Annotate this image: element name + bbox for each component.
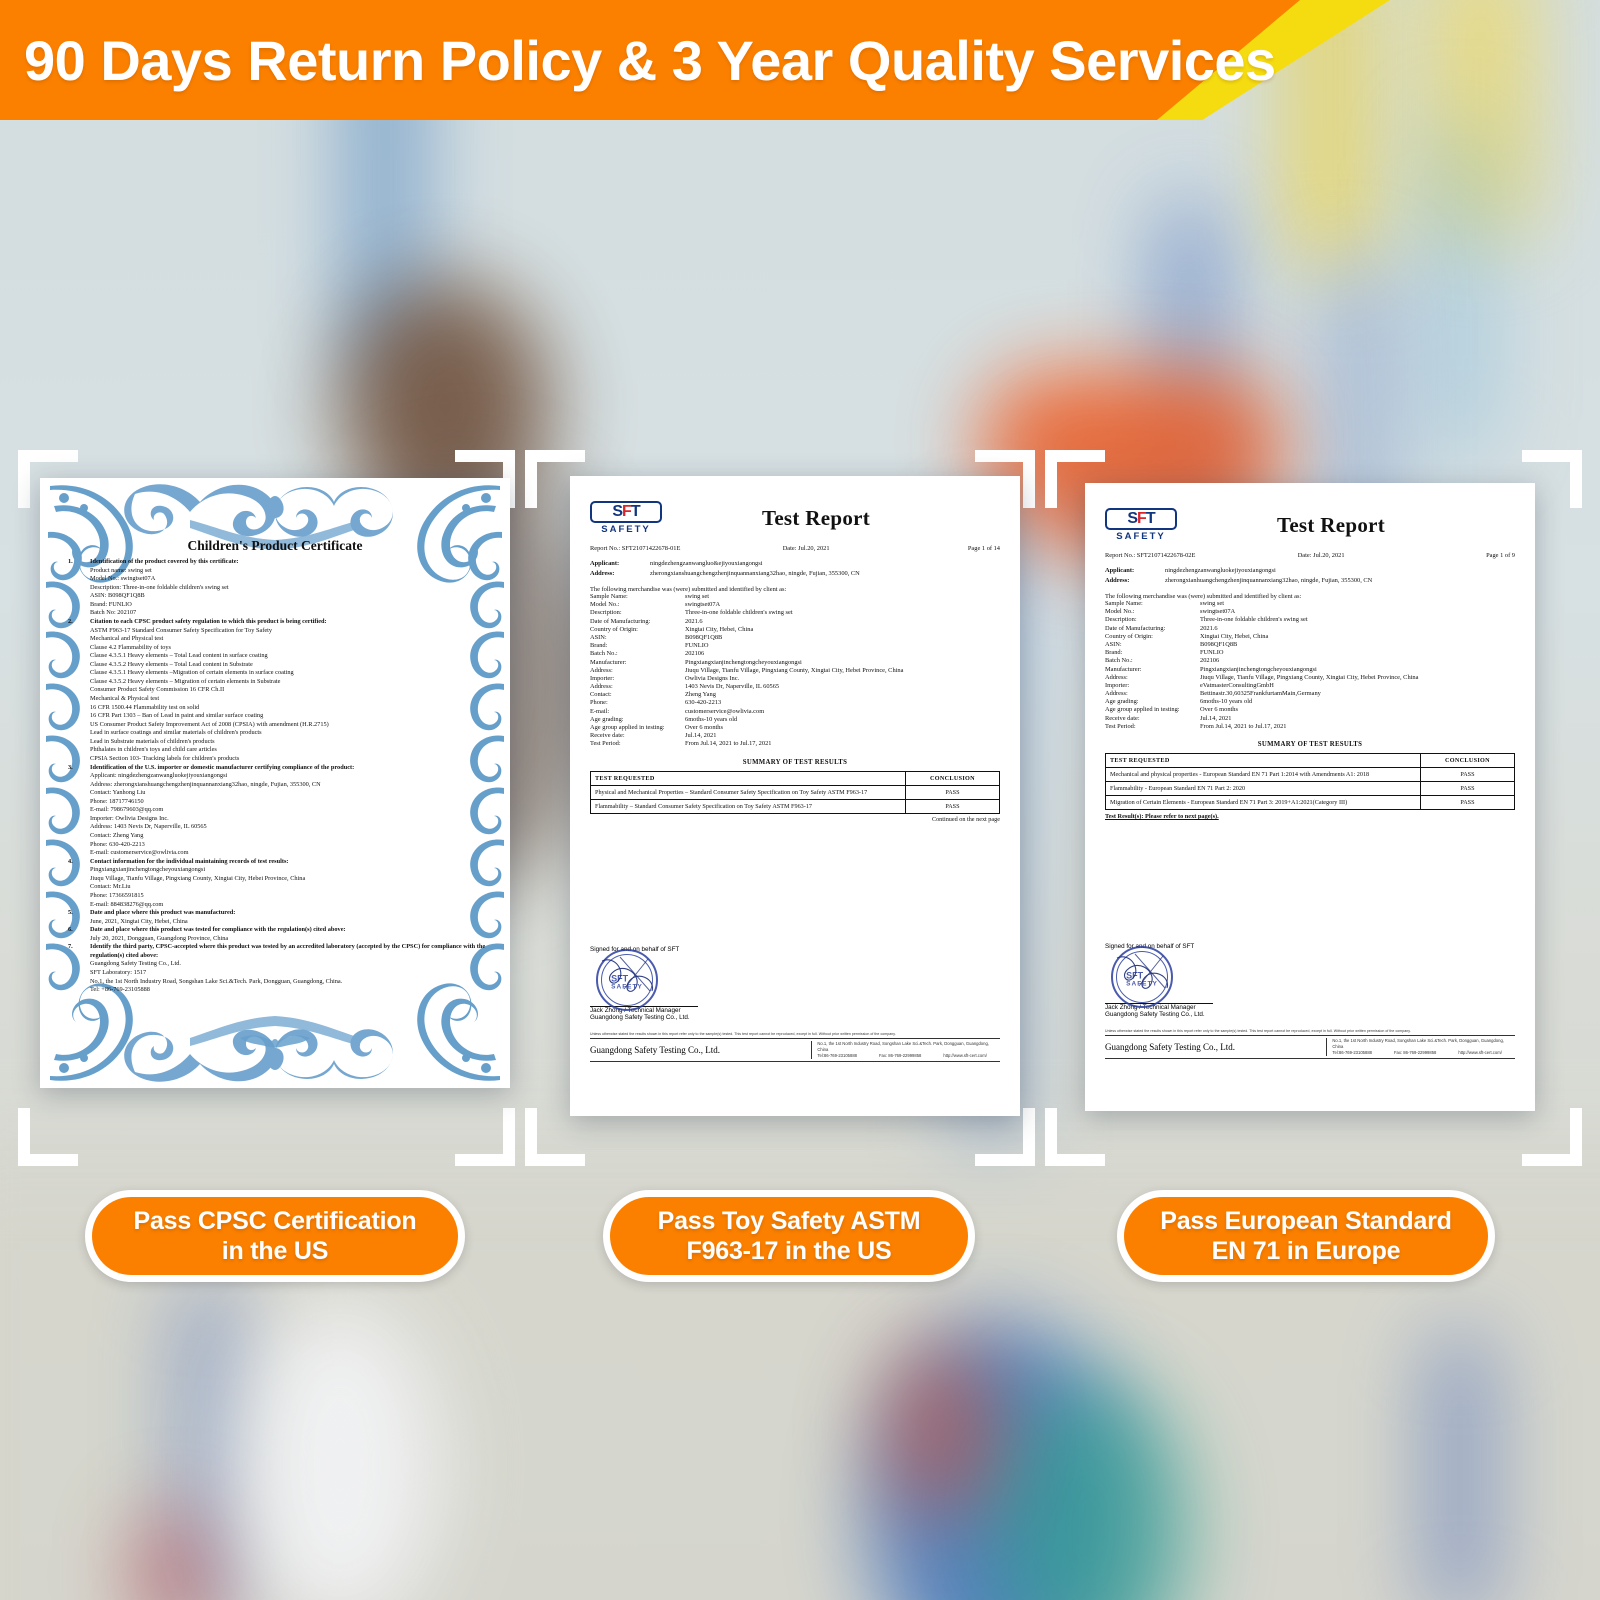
- report-astm-header: SFT SAFETY Test Report: [590, 498, 1000, 538]
- report-field-value: 630-420-2213: [685, 699, 1000, 707]
- certificate-item-line: Clause 4.2 Flammability of toys: [90, 644, 488, 653]
- table-row: Flammability - European Standard EN 71 P…: [1106, 782, 1515, 796]
- report-field-row: Sample Name:swing set: [590, 593, 1000, 601]
- certificate-item-line: Contact: Yanhong Liu: [90, 789, 488, 798]
- report-astm-applicant-block: Applicant: ningdezhengzanwangluo&ejiyoux…: [590, 560, 1000, 577]
- report-field-value: 2021.6: [685, 618, 1000, 626]
- certificate-item-line: E-mail: 798679603@qq.com: [90, 806, 488, 815]
- table-cell-test: Flammability – Standard Consumer Safety …: [591, 799, 906, 813]
- table-cell-conclusion: PASS: [1420, 796, 1514, 810]
- bg-blob-pole-lower-red: [140, 1510, 210, 1600]
- report-field-key: Description:: [590, 609, 685, 617]
- report-no-label: Report No.:: [590, 545, 620, 552]
- report-en71-footer: Unless otherwise stated the results show…: [1105, 1029, 1515, 1059]
- report-field-row: Brand:FUNLIO: [590, 642, 1000, 650]
- report-date-label: Date:: [1298, 552, 1312, 559]
- address-label: Address:: [590, 570, 650, 577]
- certificate-item-line: July 20, 2021, Dongguan, Guangdong Provi…: [90, 935, 488, 944]
- bracket-bottom-right: [1522, 1108, 1582, 1166]
- report-field-value: Jiuqu Village, Tianfu Village, Pingxiang…: [1200, 674, 1515, 682]
- report-field-key: Brand:: [1105, 649, 1200, 657]
- bg-blob-toy-red: [880, 1340, 1000, 1520]
- report-field-row: Age grading:6moths-10 years old: [1105, 698, 1515, 706]
- certificate-item-line: Address: zherongxianshuangchengzhenjinqu…: [90, 781, 488, 790]
- report-field-key: ASIN:: [1105, 641, 1200, 649]
- report-field-value: B098QF1Q8B: [1200, 641, 1515, 649]
- bracket-bottom-mid-left-b: [525, 1108, 585, 1166]
- report-field-key: Brand:: [590, 642, 685, 650]
- certificate-item-text: Citation to each CPSC product safety reg…: [90, 618, 488, 764]
- report-field-row: ASIN:B098QF1Q8B: [1105, 641, 1515, 649]
- report-field-value: swing set: [685, 593, 1000, 601]
- report-field-row: ASIN:B098QF1Q8B: [590, 634, 1000, 642]
- certificate-item-number: 5.: [68, 909, 90, 918]
- badge-cpsc-certification[interactable]: Pass CPSC Certification in the US: [85, 1190, 465, 1282]
- certificate-item-line: Brand: FUNLIO: [90, 601, 488, 610]
- report-field-value: customerservice@owlivia.com: [685, 708, 1000, 716]
- report-field-key: Date of Manufacturing:: [1105, 625, 1200, 633]
- badge-line-2: in the US: [134, 1236, 417, 1267]
- report-field-value: eVatmasterConsultingGmbH: [1200, 682, 1515, 690]
- certificate-item-line: No.1, the 1st North Industry Road, Songs…: [90, 978, 488, 987]
- certificate-item-text: Date and place where this product was te…: [90, 926, 488, 943]
- certificate-item-line: Phone: 18717746150: [90, 798, 488, 807]
- report-field-row: Address:Jiuqu Village, Tianfu Village, P…: [590, 667, 1000, 675]
- certificate-item: 3.Identification of the U.S. importer or…: [68, 764, 488, 858]
- report-field-value: Three-in-one foldable children's swing s…: [1200, 616, 1515, 624]
- certificate-item-number: 2.: [68, 618, 90, 627]
- certificate-item-number: 7.: [68, 943, 90, 952]
- certificate-item-text: Identify the third party, CPSC-accepted …: [90, 943, 488, 994]
- report-field-value: swing set: [1200, 600, 1515, 608]
- report-field-key: Age group applied in testing:: [590, 724, 685, 732]
- report-field-value: Jiuqu Village, Tianfu Village, Pingxiang…: [685, 667, 1000, 675]
- report-field-value: 1403 Nevis Dr, Naperville, IL 60565: [685, 683, 1000, 691]
- report-field-key: Address:: [590, 683, 685, 691]
- report-field-row: Receive date:Jul.14, 2021: [1105, 715, 1515, 723]
- certificate-body: 1.Identification of the product covered …: [68, 558, 488, 995]
- report-field-value: 202106: [1200, 657, 1515, 665]
- report-field-row: Importer:eVatmasterConsultingGmbH: [1105, 682, 1515, 690]
- report-en71-signature-block: Signed for and on behalf of SFT SFTSAFET…: [1105, 943, 1213, 1018]
- report-field-key: Importer:: [590, 675, 685, 683]
- report-field-row: Model No.:swingtset07A: [590, 601, 1000, 609]
- report-en71-summary-table: TEST REQUESTEDCONCLUSION Mechanical and …: [1105, 753, 1515, 810]
- report-no-value: SFT21071422678-02E: [1137, 552, 1196, 559]
- report-date-label: Date:: [783, 545, 797, 552]
- report-field-value: Over 6 months: [685, 724, 1000, 732]
- applicant-label: Applicant:: [1105, 567, 1165, 574]
- report-field-key: Phone:: [590, 699, 685, 707]
- report-field-row: Address:Jiuqu Village, Tianfu Village, P…: [1105, 674, 1515, 682]
- certificate-item-line: Mechanical and Physical test: [90, 635, 488, 644]
- report-field-key: Receive date:: [1105, 715, 1200, 723]
- report-field-row: Country of Origin:Xingtai City, Hebei, C…: [1105, 633, 1515, 641]
- certificate-item-heading: Identification of the U.S. importer or d…: [90, 764, 354, 771]
- certificate-item-text: Identification of the U.S. importer or d…: [90, 764, 488, 858]
- certificate-item-line: Contact: Zheng Yang: [90, 832, 488, 841]
- report-en71-header: SFT SAFETY Test Report: [1105, 505, 1515, 545]
- report-field-value: 6moths-10 years old: [685, 716, 1000, 724]
- certificate-item-line: Clause 4.3.5.2 Heavy elements – Total Le…: [90, 661, 488, 670]
- report-astm-summary-table: TEST REQUESTEDCONCLUSION Physical and Me…: [590, 771, 1000, 814]
- report-field-row: Batch No.:202106: [1105, 657, 1515, 665]
- certificate-item: 4.Contact information for the individual…: [68, 858, 488, 909]
- certificate-item-line: Importer: Owlivia Designs Inc.: [90, 815, 488, 824]
- certificate-item-heading: Citation to each CPSC product safety reg…: [90, 618, 327, 625]
- report-field-row: E-mail:customerservice@owlivia.com: [590, 708, 1000, 716]
- certificate-item-text: Identification of the product covered by…: [90, 558, 488, 618]
- report-field-value: Over 6 months: [1200, 706, 1515, 714]
- report-astm-footer: Unless otherwise stated the results show…: [590, 1032, 1000, 1062]
- report-page-number: Page 1 of 14: [906, 545, 1000, 552]
- report-field-row: Date of Manufacturing:2021.6: [1105, 625, 1515, 633]
- report-field-key: Age grading:: [590, 716, 685, 724]
- certificate-item-line: Clause 4.3.5.1 Heavy elements –Migration…: [90, 669, 488, 678]
- certificate-item-line: Phone: 17366591815: [90, 892, 488, 901]
- signed-label: Signed for and on behalf of SFT: [1105, 943, 1213, 950]
- report-field-row: Brand:FUNLIO: [1105, 649, 1515, 657]
- applicant-label: Applicant:: [590, 560, 650, 567]
- report-field-row: Test Period:From Jul.14, 2021 to Jul.17,…: [1105, 723, 1515, 731]
- report-field-key: Contact:: [590, 691, 685, 699]
- certificate-item-line: Phthalates in children's toys and child …: [90, 746, 488, 755]
- bracket-bottom-mid-left-a: [455, 1108, 515, 1166]
- footer-tel: Tel:86-769-23105888: [1332, 1050, 1372, 1056]
- report-field-key: Sample Name:: [1105, 600, 1200, 608]
- report-field-row: Contact:Zheng Yang: [590, 691, 1000, 699]
- badge-line-2: F963-17 in the US: [658, 1236, 921, 1267]
- certificate-item-number: 3.: [68, 764, 90, 773]
- certificate-item-line: Phone: 630-420-2213: [90, 841, 488, 850]
- report-field-value: Pingxiangxianjinchengtongcheyouxiangongs…: [685, 659, 1000, 667]
- report-field-value: Xingtai City, Hebei, China: [685, 626, 1000, 634]
- report-astm-summary-title: SUMMARY OF TEST RESULTS: [590, 759, 1000, 766]
- certificate-item-line: Clause 4.3.5.1 Heavy elements – Total Le…: [90, 652, 488, 661]
- bg-blob-cyan-pole: [1430, 120, 1490, 460]
- report-en71-intro: The following merchandise was (were) sub…: [1105, 593, 1515, 600]
- report-field-row: Phone:630-420-2213: [590, 699, 1000, 707]
- table-header-cell: CONCLUSION: [905, 771, 999, 785]
- report-en71-summary-title: SUMMARY OF TEST RESULTS: [1105, 741, 1515, 748]
- sft-official-stamp-icon: SFTSAFETY: [596, 949, 658, 1011]
- report-en71-meta: Report No.: SFT21071422678-02E Date: Jul…: [1105, 552, 1515, 559]
- report-en71-next-pages: Test Result(s): Please refer to next pag…: [1105, 813, 1515, 820]
- signer-name: Jack Zhong / Technical Manager: [1105, 1004, 1213, 1011]
- certificate-item: 7.Identify the third party, CPSC-accepte…: [68, 943, 488, 994]
- report-field-value: From Jul.14, 2021 to Jul.17, 2021: [685, 740, 1000, 748]
- certificate-item: 2.Citation to each CPSC product safety r…: [68, 618, 488, 764]
- report-field-row: Receive date:Jul.14, 2021: [590, 732, 1000, 740]
- report-field-row: Address:1403 Nevis Dr, Naperville, IL 60…: [590, 683, 1000, 691]
- report-field-key: Model No.:: [590, 601, 685, 609]
- badge-line-1: Pass CPSC Certification: [134, 1206, 417, 1237]
- table-row: Flammability – Standard Consumer Safety …: [591, 799, 1000, 813]
- certificate-item-line: Address: 1403 Nevis Dr, Naperville, IL 6…: [90, 823, 488, 832]
- report-field-key: Test Period:: [1105, 723, 1200, 731]
- certificate-item-heading: Identification of the product covered by…: [90, 558, 239, 565]
- report-field-row: Model No.:swingtset07A: [1105, 608, 1515, 616]
- report-field-row: Age group applied in testing:Over 6 mont…: [590, 724, 1000, 732]
- report-field-row: Date of Manufacturing:2021.6: [590, 618, 1000, 626]
- report-field-key: Manufacturer:: [1105, 666, 1200, 674]
- certificate-item-line: E-mail: 884838276@qq.com: [90, 901, 488, 910]
- report-field-value: From Jul.14, 2021 to Jul.17, 2021: [1200, 723, 1515, 731]
- report-field-row: Manufacturer:Pingxiangxianjinchengtongch…: [1105, 666, 1515, 674]
- signer-company: Guangdong Safety Testing Co., Ltd.: [590, 1014, 698, 1021]
- table-header-cell: CONCLUSION: [1420, 754, 1514, 768]
- report-field-key: ASIN:: [590, 634, 685, 642]
- signer-name: Jack Zhong / Technical Manager: [590, 1007, 698, 1014]
- address-value: zherongxianshuangchengzhenjinquannanxian…: [650, 570, 860, 577]
- certificate-item-line: Guangdong Safety Testing Co., Ltd.: [90, 960, 488, 969]
- report-field-key: Manufacturer:: [590, 659, 685, 667]
- footer-company: Guangdong Safety Testing Co., Ltd.: [1105, 1038, 1326, 1056]
- certificate-item-heading: Date and place where this product was te…: [90, 926, 346, 933]
- table-cell-conclusion: PASS: [905, 785, 999, 799]
- report-field-value: Jul.14, 2021: [1200, 715, 1515, 723]
- certificate-item-line: 16 CFR 1500.44 Flammability test on soli…: [90, 704, 488, 713]
- certificate-item-line: June, 2021, Xingtai City, Hebei, China: [90, 918, 488, 927]
- footer-company: Guangdong Safety Testing Co., Ltd.: [590, 1041, 811, 1059]
- address-value: zherongxianhuangchengzhenjinquannanxiang…: [1165, 577, 1372, 584]
- table-row: Mechanical and physical properties - Eur…: [1106, 768, 1515, 782]
- certificate-item-line: Tel: +86-769-23105888: [90, 986, 488, 995]
- report-field-key: Address:: [1105, 690, 1200, 698]
- certificate-item-heading: Contact information for the individual m…: [90, 858, 289, 865]
- bg-blob-pole-lower-right: [1430, 1330, 1490, 1600]
- report-field-row: Address:Bettinastr.30,60325FrankfurtamMa…: [1105, 690, 1515, 698]
- badge-european-standard-en71[interactable]: Pass European Standard EN 71 in Europe: [1117, 1190, 1495, 1282]
- bracket-bottom-mid-right-a: [975, 1108, 1035, 1166]
- badge-line-2: EN 71 in Europe: [1160, 1236, 1452, 1267]
- report-field-value: FUNLIO: [1200, 649, 1515, 657]
- certificate-item-line: CPSIA Section 103- Tracking labels for c…: [90, 755, 488, 764]
- report-page-number: Page 1 of 9: [1421, 552, 1515, 559]
- report-field-row: Sample Name:swing set: [1105, 600, 1515, 608]
- sft-safety-logo-icon: SFT SAFETY: [590, 501, 662, 535]
- report-field-row: Country of Origin:Xingtai City, Hebei, C…: [590, 626, 1000, 634]
- footer-fax: Fax: 86-769-22999858: [1394, 1050, 1436, 1056]
- report-field-key: Batch No.:: [1105, 657, 1200, 665]
- certificate-item-line: Jiuqu Village, Tianfu Village, Pingxiang…: [90, 875, 488, 884]
- certificate-item-line: ASTM F963-17 Standard Consumer Safety Sp…: [90, 627, 488, 636]
- report-astm-intro: The following merchandise was (were) sub…: [590, 586, 1000, 593]
- footer-url[interactable]: http://www.sft-cert.com/: [943, 1053, 987, 1059]
- report-no-label: Report No.:: [1105, 552, 1135, 559]
- certificate-item-line: Applicant: ningdezhengzanwangluokejiyoux…: [90, 772, 488, 781]
- certificate-item-line: Product name: swing set: [90, 567, 488, 576]
- report-field-row: Manufacturer:Pingxiangxianjinchengtongch…: [590, 659, 1000, 667]
- report-no-value: SFT21071422678-01E: [622, 545, 681, 552]
- report-field-key: Receive date:: [590, 732, 685, 740]
- report-field-value: Bettinastr.30,60325FrankfurtamMain,Germa…: [1200, 690, 1515, 698]
- report-field-key: Address:: [1105, 674, 1200, 682]
- report-field-value: Owlivia Designs Inc.: [685, 675, 1000, 683]
- footer-fax: Fax: 86-769-22999858: [879, 1053, 921, 1059]
- certificate-item-number: 6.: [68, 926, 90, 935]
- certificate-item-line: Contact: Mr.Liu: [90, 883, 488, 892]
- report-field-row: Description:Three-in-one foldable childr…: [1105, 616, 1515, 624]
- report-field-value: Zheng Yang: [685, 691, 1000, 699]
- footer-url[interactable]: http://www.sft-cert.com/: [1458, 1050, 1502, 1056]
- report-field-value: FUNLIO: [685, 642, 1000, 650]
- report-field-value: swingtset07A: [1200, 608, 1515, 616]
- certificate-item-line: Lead in Substrate materials of children'…: [90, 738, 488, 747]
- report-field-value: 6moths-10 years old: [1200, 698, 1515, 706]
- document-test-report-astm[interactable]: SFT SAFETY Test Report Report No.: SFT21…: [570, 476, 1020, 1116]
- document-test-report-en71[interactable]: SFT SAFETY Test Report Report No.: SFT21…: [1085, 483, 1535, 1111]
- report-field-key: Date of Manufacturing:: [590, 618, 685, 626]
- certificate-item-line: Model No.: swingtset07A: [90, 575, 488, 584]
- report-field-key: Country of Origin:: [1105, 633, 1200, 641]
- certificate-item-heading: Identify the third party, CPSC-accepted …: [90, 943, 485, 959]
- certificate-item-line: Consumer Product Safety Commission 16 CF…: [90, 686, 488, 695]
- report-en71-title: Test Report: [1187, 513, 1515, 538]
- report-astm-meta: Report No.: SFT21071422678-01E Date: Jul…: [590, 545, 1000, 552]
- report-field-value: Three-in-one foldable children's swing s…: [685, 609, 1000, 617]
- table-row: Physical and Mechanical Properties – Sta…: [591, 785, 1000, 799]
- table-cell-test: Flammability - European Standard EN 71 P…: [1106, 782, 1421, 796]
- certificate-item-line: SFT Laboratory: 1517: [90, 969, 488, 978]
- report-field-key: Importer:: [1105, 682, 1200, 690]
- document-childrens-product-certificate[interactable]: Children's Product Certificate 1.Identif…: [40, 478, 510, 1088]
- report-field-key: Description:: [1105, 616, 1200, 624]
- footer-address: No.1, the 1st North Industry Road, Songs…: [817, 1041, 1000, 1053]
- report-astm-title: Test Report: [672, 506, 1000, 531]
- report-field-value: B098QF1Q8B: [685, 634, 1000, 642]
- certificate-item-text: Contact information for the individual m…: [90, 858, 488, 909]
- report-field-value: Pingxiangxianjinchengtongcheyouxiangongs…: [1200, 666, 1515, 674]
- report-field-key: Sample Name:: [590, 593, 685, 601]
- certificate-item-line: E-mail: customerservice@owlivia.com: [90, 849, 488, 858]
- certificate-item-line: US Consumer Product Safety Improvement A…: [90, 721, 488, 730]
- bracket-bottom-left: [18, 1108, 78, 1166]
- report-field-row: Batch No.:202106: [590, 650, 1000, 658]
- sft-official-stamp-icon: SFTSAFETY: [1111, 946, 1173, 1008]
- table-header-cell: TEST REQUESTED: [1106, 754, 1421, 768]
- certificate-item-heading: Date and place where this product was ma…: [90, 909, 235, 916]
- report-field-key: Test Period:: [590, 740, 685, 748]
- report-astm-signature-block: Signed for and on behalf of SFT SFTSAFET…: [590, 946, 698, 1021]
- report-field-key: E-mail:: [590, 708, 685, 716]
- report-date-value: Jul.20, 2021: [798, 545, 829, 552]
- report-field-value: 202106: [685, 650, 1000, 658]
- certificate-item-line: Clause 4.3.5.2 Heavy elements – Migratio…: [90, 678, 488, 687]
- certificate-item: 6.Date and place where this product was …: [68, 926, 488, 943]
- header-banner: 90 Days Return Policy & 3 Year Quality S…: [0, 0, 1600, 120]
- report-astm-fields: Sample Name:swing setModel No.:swingtset…: [590, 593, 1000, 749]
- applicant-value: ningdezhengzanwangluo&ejiyouxiangongsi: [650, 560, 763, 567]
- report-field-value: Jul.14, 2021: [685, 732, 1000, 740]
- table-cell-test: Physical and Mechanical Properties – Sta…: [591, 785, 906, 799]
- certificate-item: 1.Identification of the product covered …: [68, 558, 488, 618]
- certificate-item-line: Pingxiangxianjinchengtongcheyouxiangongs…: [90, 866, 488, 875]
- certificate-item-line: Lead in surface coatings and similar mat…: [90, 729, 488, 738]
- certificate-item-line: Description: Three-in-one foldable child…: [90, 584, 488, 593]
- certificate-item-line: 16 CFR Part 1303 – Ban of Lead in paint …: [90, 712, 488, 721]
- report-date-value: Jul.20, 2021: [1313, 552, 1344, 559]
- badge-line-1: Pass European Standard: [1160, 1206, 1452, 1237]
- certificate-item-line: ASIN: B098QF1Q8B: [90, 592, 488, 601]
- address-label: Address:: [1105, 577, 1165, 584]
- table-cell-conclusion: PASS: [905, 799, 999, 813]
- report-field-value: swingtset07A: [685, 601, 1000, 609]
- table-header-cell: TEST REQUESTED: [591, 771, 906, 785]
- certificate-item-text: Date and place where this product was ma…: [90, 909, 488, 926]
- report-en71-applicant-block: Applicant: ningdezhengzanwangluokejiyoux…: [1105, 567, 1515, 584]
- report-field-row: Importer:Owlivia Designs Inc.: [590, 675, 1000, 683]
- bracket-bottom-mid-right-b: [1045, 1108, 1105, 1166]
- table-cell-conclusion: PASS: [1420, 782, 1514, 796]
- signer-company: Guangdong Safety Testing Co., Ltd.: [1105, 1011, 1213, 1018]
- report-field-row: Age group applied in testing:Over 6 mont…: [1105, 706, 1515, 714]
- certificate-item-line: Mechanical & Physical test: [90, 695, 488, 704]
- certificate-item: 5.Date and place where this product was …: [68, 909, 488, 926]
- page-title: 90 Days Return Policy & 3 Year Quality S…: [24, 0, 1276, 120]
- report-field-row: Test Period:From Jul.14, 2021 to Jul.17,…: [590, 740, 1000, 748]
- report-field-value: 2021.6: [1200, 625, 1515, 633]
- table-row: Migration of Certain Elements - European…: [1106, 796, 1515, 810]
- report-field-row: Age grading:6moths-10 years old: [590, 716, 1000, 724]
- badge-toy-safety-astm[interactable]: Pass Toy Safety ASTM F963-17 in the US: [603, 1190, 975, 1282]
- table-cell-conclusion: PASS: [1420, 768, 1514, 782]
- report-field-key: Country of Origin:: [590, 626, 685, 634]
- report-field-key: Batch No.:: [590, 650, 685, 658]
- certificate-item-line: Batch No: 202107: [90, 609, 488, 618]
- applicant-value: ningdezhengzanwangluokejiyouxiangongsi: [1165, 567, 1276, 574]
- footer-tel: Tel:86-769-23105888: [817, 1053, 857, 1059]
- certificate-title: Children's Product Certificate: [40, 538, 510, 554]
- certificate-item-number: 4.: [68, 858, 90, 867]
- report-en71-fields: Sample Name:swing setModel No.:swingtset…: [1105, 600, 1515, 731]
- report-astm-continued: Continued on the next page: [590, 816, 1000, 823]
- table-cell-test: Migration of Certain Elements - European…: [1106, 796, 1421, 810]
- report-field-value: Xingtai City, Hebei, China: [1200, 633, 1515, 641]
- report-field-key: Address:: [590, 667, 685, 675]
- sft-safety-logo-icon: SFT SAFETY: [1105, 508, 1177, 542]
- certificate-item-number: 1.: [68, 558, 90, 567]
- report-field-key: Age grading:: [1105, 698, 1200, 706]
- table-cell-test: Mechanical and physical properties - Eur…: [1106, 768, 1421, 782]
- footer-address: No.1, the 1st North Industry Road, Songs…: [1332, 1038, 1515, 1050]
- report-field-key: Age group applied in testing:: [1105, 706, 1200, 714]
- badge-line-1: Pass Toy Safety ASTM: [658, 1206, 921, 1237]
- report-field-key: Model No.:: [1105, 608, 1200, 616]
- report-field-row: Description:Three-in-one foldable childr…: [590, 609, 1000, 617]
- signed-label: Signed for and on behalf of SFT: [590, 946, 698, 953]
